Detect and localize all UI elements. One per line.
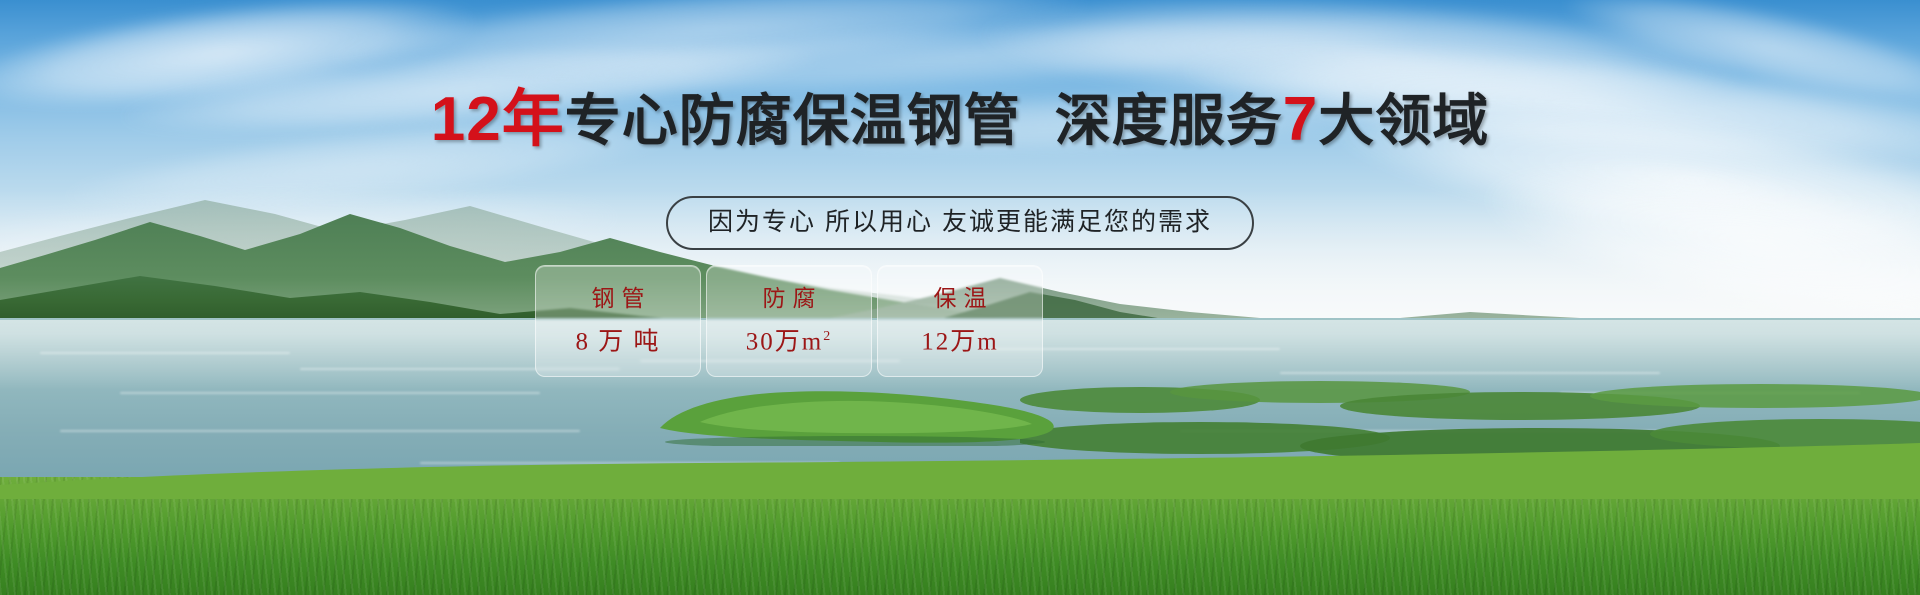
- stat-card[interactable]: 保温 12万m: [877, 265, 1043, 377]
- headline-fields-text: 大领域: [1318, 89, 1489, 152]
- stat-card-label: 保温: [927, 287, 994, 311]
- stat-card[interactable]: 防腐 30万m2: [706, 265, 872, 377]
- water-ripple: [40, 352, 290, 354]
- stat-card-value: 12万m: [921, 324, 998, 355]
- headline-service-text: 深度服务: [1055, 89, 1283, 152]
- water-ripple: [60, 430, 580, 432]
- headline-fields-number: 7: [1283, 85, 1318, 154]
- water-ripple: [120, 392, 540, 394]
- grass-island: [640, 376, 1070, 446]
- grass-edge: [0, 439, 1920, 499]
- stat-card-group: 钢管 8 万 吨 防腐 30万m2 保温 12万m: [535, 265, 1043, 377]
- stat-card[interactable]: 钢管 8 万 吨: [535, 265, 701, 377]
- subtitle-container: 因为专心 所以用心 友诚更能满足您的需求: [0, 196, 1920, 250]
- headline-years-number: 12: [431, 85, 502, 154]
- headline-main-text: 专心防腐保温钢管: [565, 89, 1021, 152]
- stat-card-value-sup: 2: [823, 329, 832, 344]
- headline: 12年专心防腐保温钢管深度服务7大领域: [0, 88, 1920, 153]
- subtitle-pill: 因为专心 所以用心 友诚更能满足您的需求: [666, 196, 1254, 250]
- stat-card-label: 钢管: [585, 287, 652, 311]
- stat-card-value-text: 12万m: [921, 328, 998, 355]
- stat-card-label: 防腐: [756, 287, 823, 311]
- stat-card-value-text: 30万m: [746, 328, 823, 355]
- stat-card-value-text: 8 万 吨: [575, 328, 660, 355]
- stat-card-value: 30万m2: [746, 324, 832, 355]
- stat-card-value: 8 万 吨: [575, 324, 660, 355]
- headline-years-unit: 年: [502, 85, 565, 154]
- hero-banner: 12年专心防腐保温钢管深度服务7大领域 因为专心 所以用心 友诚更能满足您的需求…: [0, 0, 1920, 595]
